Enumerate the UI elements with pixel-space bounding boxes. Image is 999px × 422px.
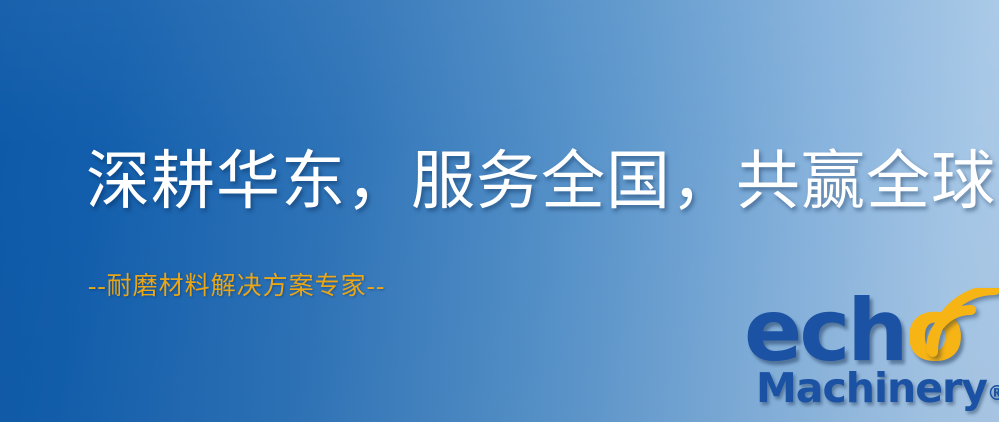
logo-tagline-machinery: Machinery® [756,368,999,409]
wifi-signal-arcs-icon [925,288,999,358]
hero-banner: 深耕华东，服务全国，共赢全球 --耐磨材料解决方案专家-- echo Machi… [0,0,999,422]
registered-trademark-icon: ® [987,381,999,405]
banner-headline: 深耕华东，服务全国，共赢全球 [86,148,996,215]
company-logo[interactable]: echo Machinery® [742,292,995,418]
logo-mark: echo Machinery® [742,292,995,418]
banner-subtitle: --耐磨材料解决方案专家-- [88,266,385,302]
logo-text-machinery: Machinery [756,364,987,412]
